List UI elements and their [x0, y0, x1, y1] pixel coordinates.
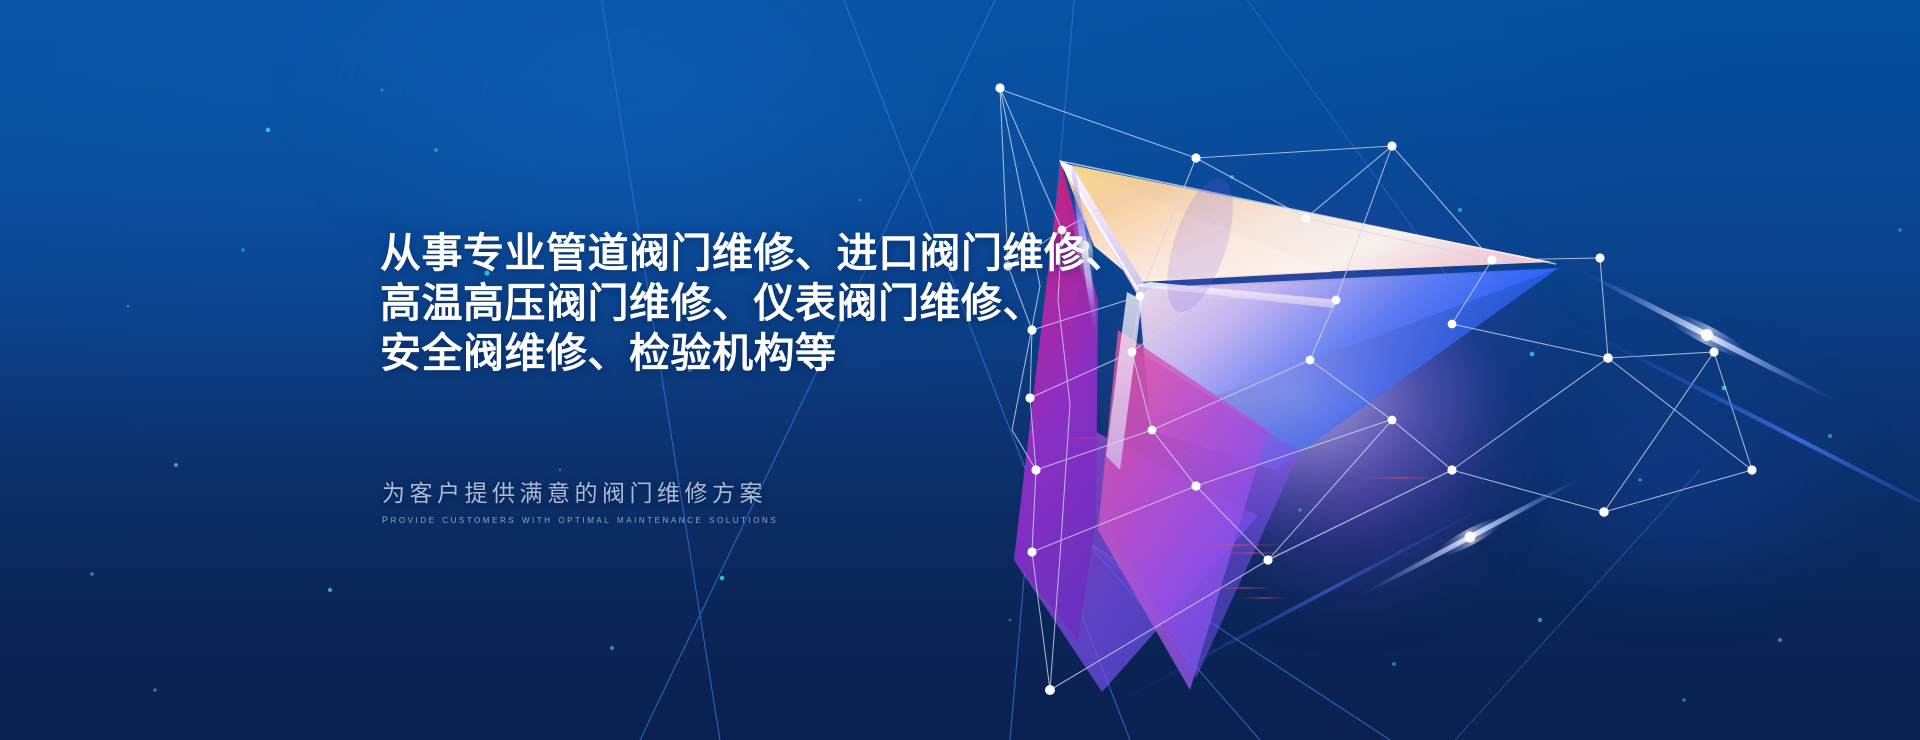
background-glow-cobalt	[1420, 300, 1920, 660]
headline-line-1: 从事专业管道阀门维修、进口阀门维修、	[380, 228, 1100, 278]
subtitle-english: Provide customers with optimal maintenan…	[382, 510, 778, 529]
background-glow-violet	[1020, 120, 1640, 640]
subtitle-chinese: 为客户提供满意的阀门维修方案	[382, 478, 778, 508]
background-glow-violet-inner	[1120, 260, 1580, 680]
hero-banner: 从事专业管道阀门维修、进口阀门维修、 高温高压阀门维修、仪表阀门维修、 安全阀维…	[0, 0, 1920, 740]
subtitle-block: 为客户提供满意的阀门维修方案 Provide customers with op…	[382, 478, 778, 529]
headline-line-3: 安全阀维修、检验机构等	[380, 328, 1100, 378]
headline-block: 从事专业管道阀门维修、进口阀门维修、 高温高压阀门维修、仪表阀门维修、 安全阀维…	[380, 228, 1100, 378]
headline-line-2: 高温高压阀门维修、仪表阀门维修、	[380, 278, 1100, 328]
